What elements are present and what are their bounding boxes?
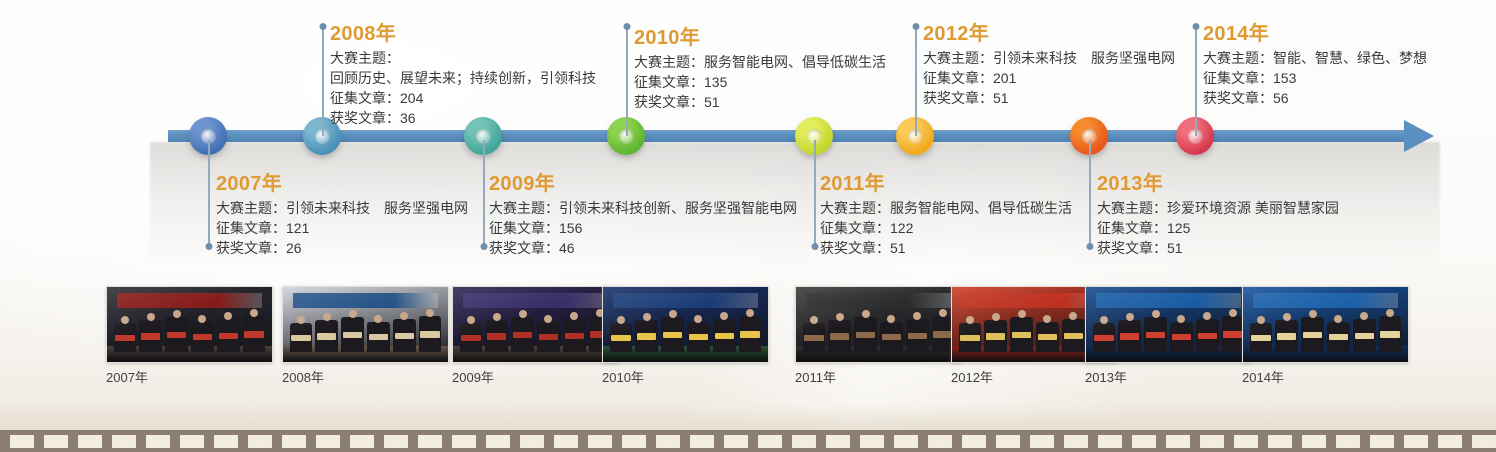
entry-awarded-count: 获奖文章：56 [1203, 88, 1427, 108]
timeline-arrow-icon [1404, 120, 1434, 152]
filmstrip-perforation [894, 435, 918, 448]
photo-gallery: 2007年2008年2009年2010年2011年2012年2013年2014年 [0, 286, 1496, 396]
gallery-item[interactable]: 2013年 [1085, 286, 1252, 386]
filmstrip-perforation [486, 435, 510, 448]
filmstrip-perforation [282, 435, 306, 448]
filmstrip-perforation [996, 435, 1020, 448]
filmstrip-perforation [1404, 435, 1428, 448]
entry-theme-line: 大赛主题：引领未来科技 服务坚强电网 [923, 48, 1175, 68]
timeline-stem-2013 [1089, 140, 1091, 246]
photo-gloss-overlay [1086, 287, 1251, 362]
entry-submitted-count: 征集文章：125 [1097, 218, 1339, 238]
timeline-stem-2008 [322, 26, 324, 136]
filmstrip-perforation [316, 435, 340, 448]
gallery-item[interactable]: 2010年 [602, 286, 769, 386]
gallery-photo-2007[interactable] [106, 286, 273, 363]
filmstrip-perforation [78, 435, 102, 448]
entry-submitted-count: 征集文章：153 [1203, 68, 1427, 88]
timeline-entry-2011: 2011年大赛主题：服务智能电网、倡导低碳生活征集文章：122获奖文章：51 [820, 172, 1072, 258]
filmstrip-perforation [452, 435, 476, 448]
entry-theme-line: 大赛主题：服务智能电网、倡导低碳生活 [820, 198, 1072, 218]
photo-gloss-overlay [107, 287, 272, 362]
timeline-entry-2009: 2009年大赛主题：引领未来科技创新、服务坚强智能电网征集文章：156获奖文章：… [489, 172, 797, 258]
infographic-canvas: 2007年大赛主题：引领未来科技 服务坚强电网征集文章：121获奖文章：2620… [0, 0, 1496, 452]
entry-awarded-count: 获奖文章：26 [216, 238, 468, 258]
entry-theme-line: 大赛主题：引领未来科技 服务坚强电网 [216, 198, 468, 218]
gallery-caption: 2011年 [795, 370, 962, 386]
entry-submitted-count: 征集文章：156 [489, 218, 797, 238]
entry-year-heading: 2014年 [1203, 22, 1427, 46]
timeline-stem-dot [1193, 23, 1200, 30]
entry-awarded-count: 获奖文章：36 [330, 108, 596, 128]
filmstrip-perforation [1166, 435, 1190, 448]
gallery-photo-2008[interactable] [282, 286, 449, 363]
filmstrip-perforation [1064, 435, 1088, 448]
filmstrip-perforation [928, 435, 952, 448]
filmstrip-perforation [758, 435, 782, 448]
filmstrip-perforation [520, 435, 544, 448]
timeline-stem-dot [913, 23, 920, 30]
filmstrip-perforation [1030, 435, 1054, 448]
entry-submitted-count: 征集文章：122 [820, 218, 1072, 238]
entry-theme-line: 大赛主题： [330, 48, 596, 68]
entry-awarded-count: 获奖文章：51 [634, 92, 886, 112]
gallery-photo-2014[interactable] [1242, 286, 1409, 363]
gallery-photo-2013[interactable] [1085, 286, 1252, 363]
entry-year-heading: 2008年 [330, 22, 596, 46]
gallery-item[interactable]: 2014年 [1242, 286, 1409, 386]
entry-theme-line: 大赛主题：珍爱环境资源 美丽智慧家园 [1097, 198, 1339, 218]
timeline-entry-2007: 2007年大赛主题：引领未来科技 服务坚强电网征集文章：121获奖文章：26 [216, 172, 468, 258]
entry-submitted-count: 征集文章：204 [330, 88, 596, 108]
gallery-caption: 2007年 [106, 370, 273, 386]
filmstrip-perforation [112, 435, 136, 448]
timeline-entry-2013: 2013年大赛主题：珍爱环境资源 美丽智慧家园征集文章：125获奖文章：51 [1097, 172, 1339, 258]
filmstrip-perforation [588, 435, 612, 448]
filmstrip-perforation [860, 435, 884, 448]
gallery-item[interactable]: 2007年 [106, 286, 273, 386]
filmstrip-perforation [1472, 435, 1496, 448]
filmstrip-perforation [418, 435, 442, 448]
filmstrip-perforation [1200, 435, 1224, 448]
timeline-stem-dot [481, 243, 488, 250]
timeline-entry-2012: 2012年大赛主题：引领未来科技 服务坚强电网征集文章：201获奖文章：51 [923, 22, 1175, 108]
photo-gloss-overlay [1243, 287, 1408, 362]
filmstrip-perforation [44, 435, 68, 448]
timeline-entry-2010: 2010年大赛主题：服务智能电网、倡导低碳生活征集文章：135获奖文章：51 [634, 26, 886, 112]
gallery-caption: 2013年 [1085, 370, 1252, 386]
timeline-stem-dot [812, 243, 819, 250]
filmstrip-perforation [180, 435, 204, 448]
timeline-stem-dot [1087, 243, 1094, 250]
timeline-stem-2012 [915, 26, 917, 136]
entry-year-heading: 2010年 [634, 26, 886, 50]
filmstrip-perforation [1132, 435, 1156, 448]
gallery-caption: 2010年 [602, 370, 769, 386]
timeline-entry-2008: 2008年大赛主题：回顾历史、展望未来；持续创新，引领科技征集文章：204获奖文… [330, 22, 596, 128]
gallery-caption: 2008年 [282, 370, 449, 386]
photo-gloss-overlay [453, 287, 618, 362]
filmstrip-perforation [1098, 435, 1122, 448]
filmstrip-perforation [214, 435, 238, 448]
entry-year-heading: 2011年 [820, 172, 1072, 196]
filmstrip-perforation [792, 435, 816, 448]
filmstrip-perforation [622, 435, 646, 448]
filmstrip-perforation [724, 435, 748, 448]
entry-awarded-count: 获奖文章：51 [1097, 238, 1339, 258]
gallery-item[interactable]: 2011年 [795, 286, 962, 386]
entry-year-heading: 2013年 [1097, 172, 1339, 196]
timeline-stem-2007 [208, 140, 210, 246]
filmstrip-perforation [10, 435, 34, 448]
timeline-stem-dot [320, 23, 327, 30]
timeline-stem-2010 [626, 26, 628, 136]
entry-awarded-count: 获奖文章：46 [489, 238, 797, 258]
entry-theme-line: 大赛主题：智能、智慧、绿色、梦想 [1203, 48, 1427, 68]
photo-gloss-overlay [283, 287, 448, 362]
filmstrip-perforation [1336, 435, 1360, 448]
timeline-axis-area: 2007年大赛主题：引领未来科技 服务坚强电网征集文章：121获奖文章：2620… [0, 0, 1496, 280]
timeline-stem-dot [624, 23, 631, 30]
entry-submitted-count: 征集文章：135 [634, 72, 886, 92]
filmstrip-perforation [1438, 435, 1462, 448]
entry-submitted-count: 征集文章：121 [216, 218, 468, 238]
entry-year-heading: 2009年 [489, 172, 797, 196]
timeline-stem-dot [206, 243, 213, 250]
filmstrip-perforation [1234, 435, 1258, 448]
entry-theme-line-continued: 回顾历史、展望未来；持续创新，引领科技 [330, 68, 596, 88]
entry-theme-line: 大赛主题：引领未来科技创新、服务坚强智能电网 [489, 198, 797, 218]
timeline-stem-2009 [483, 140, 485, 246]
filmstrip-perforation [1370, 435, 1394, 448]
filmstrip-perforation [690, 435, 714, 448]
filmstrip-perforation [248, 435, 272, 448]
filmstrip-fade [0, 404, 1496, 430]
entry-awarded-count: 获奖文章：51 [820, 238, 1072, 258]
gallery-caption: 2014年 [1242, 370, 1409, 386]
entry-year-heading: 2007年 [216, 172, 468, 196]
timeline-stem-2014 [1195, 26, 1197, 136]
filmstrip-perforation [554, 435, 578, 448]
entry-submitted-count: 征集文章：201 [923, 68, 1175, 88]
timeline-stem-2011 [814, 140, 816, 246]
timeline-entry-2014: 2014年大赛主题：智能、智慧、绿色、梦想征集文章：153获奖文章：56 [1203, 22, 1427, 108]
filmstrip-perforation [384, 435, 408, 448]
filmstrip-perforation [1268, 435, 1292, 448]
gallery-item[interactable]: 2008年 [282, 286, 449, 386]
timeline-axis-line [168, 130, 1420, 142]
gallery-photo-2009[interactable] [452, 286, 619, 363]
filmstrip-perforation [656, 435, 680, 448]
gallery-photo-2010[interactable] [602, 286, 769, 363]
photo-gloss-overlay [796, 287, 961, 362]
filmstrip-perforation [146, 435, 170, 448]
gallery-item[interactable]: 2009年 [452, 286, 619, 386]
entry-awarded-count: 获奖文章：51 [923, 88, 1175, 108]
entry-year-heading: 2012年 [923, 22, 1175, 46]
filmstrip-perforation [826, 435, 850, 448]
gallery-caption: 2009年 [452, 370, 619, 386]
filmstrip-decoration [0, 430, 1496, 452]
filmstrip-perforation [962, 435, 986, 448]
entry-theme-line: 大赛主题：服务智能电网、倡导低碳生活 [634, 52, 886, 72]
gallery-photo-2011[interactable] [795, 286, 962, 363]
photo-gloss-overlay [603, 287, 768, 362]
filmstrip-perforation [350, 435, 374, 448]
filmstrip-perforation [1302, 435, 1326, 448]
